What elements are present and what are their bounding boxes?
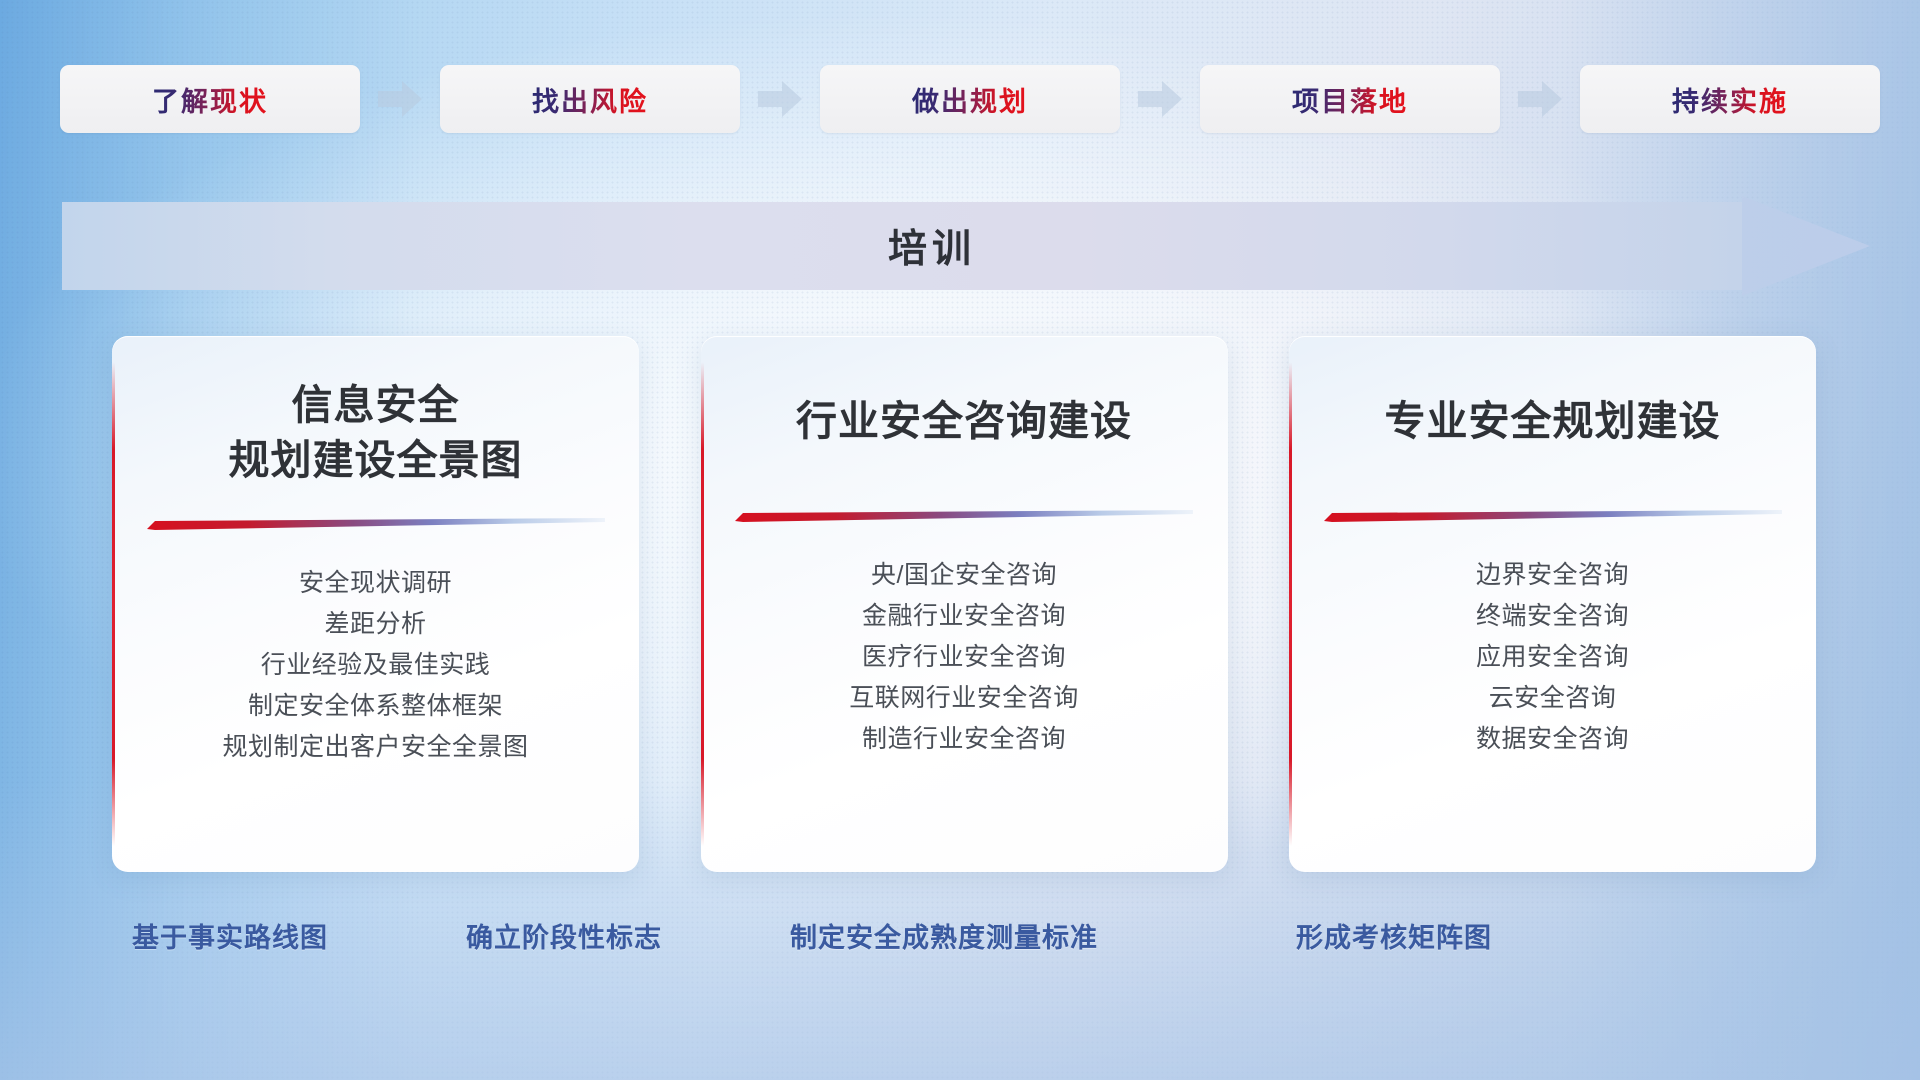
step-label: 了解现状	[152, 80, 268, 119]
step-label: 项目落地	[1292, 80, 1408, 119]
card-title: 专业安全规划建设	[1385, 394, 1721, 449]
arrow-right-icon	[378, 79, 422, 119]
step-label: 做出规划	[912, 80, 1028, 119]
card-industry-security-consulting[interactable]: 行业安全咨询建设 央/国企安全咨询 金融行业安全咨询	[701, 336, 1228, 872]
card-professional-security-planning[interactable]: 专业安全规划建设 边界安全咨询 终端安全咨询 应用安	[1289, 336, 1816, 872]
footnote-label: 制定安全成熟度测量标准	[790, 916, 1098, 955]
list-item: 安全现状调研	[299, 571, 452, 596]
banner-label: 培训	[62, 196, 1802, 296]
gradient-divider-icon	[1324, 509, 1782, 521]
step-box-2[interactable]: 找出风险	[440, 65, 740, 133]
process-step-row: 了解现状 找出风险 做出规划 项目落地 持续实施	[60, 62, 1866, 136]
list-item: 金融行业安全咨询	[862, 604, 1066, 629]
arrow-right-icon	[758, 79, 802, 119]
list-item: 制造行业安全咨询	[862, 727, 1066, 752]
list-item: 医疗行业安全咨询	[862, 645, 1066, 670]
list-item: 行业经验及最佳实践	[261, 653, 491, 678]
list-item: 互联网行业安全咨询	[849, 686, 1079, 711]
list-item: 规划制定出客户安全全景图	[222, 735, 528, 760]
card-item-list: 边界安全咨询 终端安全咨询 应用安全咨询 云安全咨询 数据安全咨询	[1289, 563, 1816, 752]
footnote-label: 基于事实路线图	[132, 916, 328, 955]
list-item: 云安全咨询	[1489, 686, 1617, 711]
arrow-right-icon	[1138, 79, 1182, 119]
gradient-divider-icon	[735, 509, 1193, 521]
list-item: 边界安全咨询	[1476, 563, 1629, 588]
footnote-label: 确立阶段性标志	[466, 916, 662, 955]
step-box-5[interactable]: 持续实施	[1580, 65, 1880, 133]
card-information-security-blueprint[interactable]: 信息安全 规划建设全景图 安全现状调研 差距分析 行	[112, 336, 639, 872]
list-item: 制定安全体系整体框架	[248, 694, 503, 719]
footnote-label: 形成考核矩阵图	[1296, 916, 1492, 955]
card-item-list: 央/国企安全咨询 金融行业安全咨询 医疗行业安全咨询 互联网行业安全咨询 制造行…	[701, 563, 1228, 752]
step-box-4[interactable]: 项目落地	[1200, 65, 1500, 133]
list-item: 差距分析	[324, 612, 426, 637]
step-label: 持续实施	[1672, 80, 1788, 119]
list-item: 数据安全咨询	[1476, 727, 1629, 752]
list-item: 终端安全咨询	[1476, 604, 1629, 629]
list-item: 应用安全咨询	[1476, 645, 1629, 670]
footnote-row: 基于事实路线图 确立阶段性标志 制定安全成熟度测量标准 形成考核矩阵图	[0, 916, 1920, 962]
step-label: 找出风险	[532, 80, 648, 119]
card-title: 信息安全 规划建设全景图	[229, 378, 523, 487]
list-item: 央/国企安全咨询	[871, 563, 1057, 588]
arrow-right-icon	[1518, 79, 1562, 119]
step-box-3[interactable]: 做出规划	[820, 65, 1120, 133]
card-title: 行业安全咨询建设	[796, 394, 1132, 449]
training-banner: 培训	[62, 196, 1870, 296]
card-row: 信息安全 规划建设全景图 安全现状调研 差距分析 行	[112, 336, 1816, 872]
card-item-list: 安全现状调研 差距分析 行业经验及最佳实践 制定安全体系整体框架 规划制定出客户…	[112, 571, 639, 760]
gradient-divider-icon	[147, 517, 605, 529]
step-box-1[interactable]: 了解现状	[60, 65, 360, 133]
